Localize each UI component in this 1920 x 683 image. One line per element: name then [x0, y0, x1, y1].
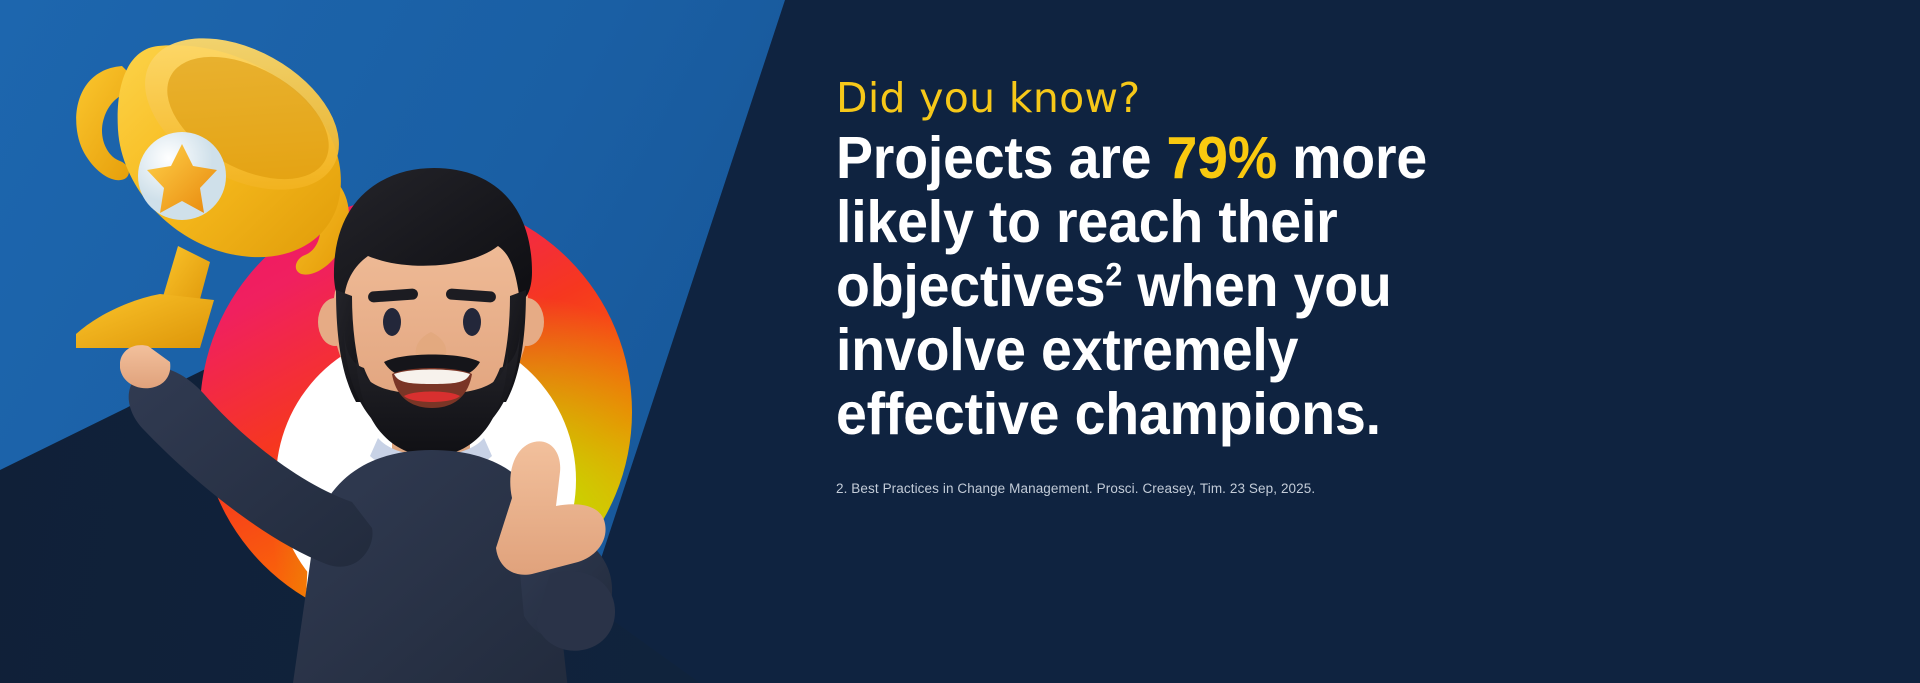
text-column: Did you know? Projects are 79% more like…: [836, 0, 1536, 683]
headline: Projects are 79% more likely to reach th…: [836, 126, 1438, 446]
headline-superscript: 2: [1105, 256, 1122, 292]
eyebrow-label: Did you know?: [836, 78, 1140, 119]
headline-part-1: Projects are: [836, 125, 1167, 191]
did-you-know-banner: Did you know? Projects are 79% more like…: [0, 0, 1920, 683]
headline-stat: 79%: [1167, 125, 1277, 191]
footnote-citation: 2. Best Practices in Change Management. …: [836, 481, 1315, 496]
bearded-man-thumbs-up-illustration: [120, 150, 700, 683]
